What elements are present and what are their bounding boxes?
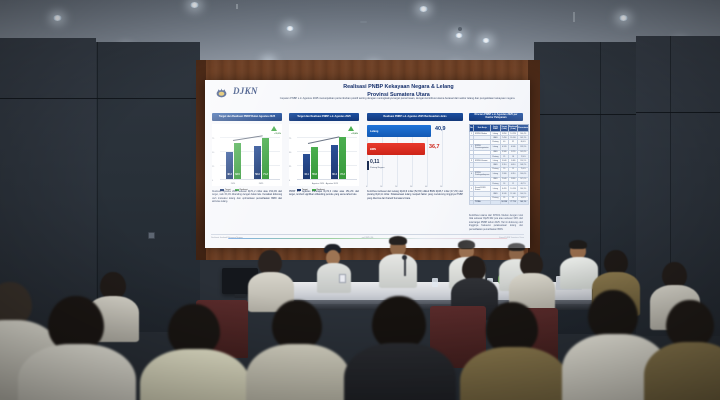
head [372,296,426,350]
bar-target-2024: 48.3 [226,152,233,179]
head [588,290,638,340]
slide-footer: Direktorat Jenderal Kekayaan Negara s.d.… [211,234,524,243]
column-header: Realisasi PNBP s.d. Agustus 2025 Berdasa… [367,113,463,121]
water-glass [432,278,438,287]
table-cell [491,200,500,204]
table-column-header: Persentase [518,125,529,132]
hair [389,236,407,245]
xtick: 10 [380,186,382,188]
djkn-wordmark: DJKN [233,86,258,96]
column-note: Kontribusi terbesar dari Lelang Rp40,9 m… [367,191,463,201]
column-note: PNBP s.d. Agustus mencapai Rp72,3 miliar… [289,191,359,198]
bar-group-agustus-2024: 44.1 55.8 [303,147,318,179]
xtick: 30 [410,186,412,188]
slide-column-realisasi-bulan: Target dan Realisasi PNBP Bulan Agustus … [212,113,282,186]
footer-left: Direktorat Jenderal Kekayaan Negara [211,237,243,239]
ceiling-vent [360,21,367,23]
downlight [619,15,628,21]
xtick: 20 [395,186,397,188]
bar-realisasi-agustus-2025: 72.3 [339,137,346,179]
downlight [419,6,428,12]
hbar-bmn-value: 36,7 [429,144,440,150]
djkn-emblem-icon [215,86,228,99]
projector-mount [573,12,575,22]
torso [644,342,720,400]
slide-column-komposisi: Realisasi PNBP s.d. Agustus 2025 Berdasa… [367,113,463,187]
slide-header: DJKN Realisasi PNBP Kekayaan Negara & Le… [205,80,530,110]
sprinkler-icon [236,4,238,9]
conference-room-photo: DJKN Realisasi PNBP Kekayaan Negara & Le… [0,0,720,400]
torso [460,347,568,400]
name-badge [339,274,346,283]
slide-description: Capaian PNBP s.d. Agustus 2025 menunjukk… [275,97,520,101]
growth-label: +23,4% [351,133,358,135]
table-cell: 52.128 [500,200,509,204]
table-cell: 77.710 [509,200,518,204]
xtick: 50 [440,186,442,188]
hbar-piutang [367,161,369,170]
presentation-slide: DJKN Realisasi PNBP Kekayaan Negara & Le… [205,80,530,248]
torso [140,349,250,400]
downlight [53,15,62,21]
torso [18,344,136,400]
bar-target-agustus-2025: 60.4 [331,145,338,179]
growth-arrow-icon [271,126,277,131]
torso [344,343,456,400]
bar-target-2025: 58.6 [254,146,261,179]
head [666,300,714,348]
bar-chart-kumulatif: 0 25 50 75 44.1 55.8 60.4 [289,124,359,186]
downlight [286,26,294,31]
column-note: Realisasi Agustus 2025 sebesar Rp71,2 mi… [212,191,282,205]
xtick: 40 [425,186,427,188]
pnbp-table: NoUnit KerjaJenis PNBPTarget (Juta)Reali… [469,124,529,205]
footer-right: Kanwil DJKN Sumatera Utara [499,237,524,239]
head [272,300,322,350]
bar-realisasi-2025: 71.2 [262,138,269,179]
head [100,272,126,299]
bar-category-2025: 2025 [252,183,270,185]
ceiling-sensor-icon [458,27,462,31]
table-column-header: Realisasi (Juta) [509,125,518,132]
downlight [455,33,463,38]
torso [379,254,417,288]
bar-group-agustus-2025: 60.4 72.3 [331,137,346,179]
table-header-row: NoUnit KerjaJenis PNBPTarget (Juta)Reali… [470,125,529,132]
projection-screen: DJKN Realisasi PNBP Kekayaan Negara & Le… [205,80,530,248]
hbar-chart-komposisi: Lelang 40,9 BMN 36,7 0,11 Piutang Negara… [367,125,463,187]
column-header: Target dan Realisasi PNBP Bulan Agustus … [212,113,282,121]
hair [508,243,525,251]
bar-group-2025: 58.6 71.2 [254,138,269,179]
table-column-header: Jenis PNBP [491,125,500,132]
slide-column-tabel: Rincian PNBP s.d. Agustus 2025 per Kanto… [469,113,523,205]
bar-realisasi-2024: 63.5 [234,143,241,179]
table-column-header: Target (Juta) [500,125,509,132]
microphone-head-icon [402,255,407,260]
hbar-lelang-value: 40,9 [435,126,446,132]
hbar-bmn: BMN 36,7 [367,143,425,155]
table-cell: TOTAL [474,200,491,204]
torso [246,344,350,400]
microphone [404,258,406,276]
growth-arrow-icon [348,126,354,131]
hair [569,240,587,249]
bar-realisasi-agustus-2024: 55.8 [311,147,318,179]
bar-category-2024: 2024 [224,183,242,185]
table-column-header: Unit Kerja [474,125,491,132]
hbar-piutang-label: Piutang Negara [370,167,384,169]
column-note: Kontribusi utama dari KPKNL Medan dengan… [469,215,523,232]
hair [458,240,475,249]
downlight [190,2,199,8]
hbar-piutang-value: 0,11 [370,159,379,165]
growth-label: +15,2% [274,133,281,135]
bar-target-agustus-2024: 44.1 [303,154,310,179]
footer-center: s.d. 2025 | 30 [362,237,373,239]
table-cell: 149,1% [518,200,529,204]
bar-category-agustus: Agustus 2024 Agustus 2025 [297,183,353,185]
column-header: Target dan Realisasi PNBP s.d. Agustus 2… [289,113,359,121]
xtick: 0 [366,186,367,188]
slide-column-realisasi-kumulatif: Target dan Realisasi PNBP s.d. Agustus 2… [289,113,359,186]
hbar-lelang: Lelang 40,9 [367,125,431,137]
bar-group-2024: 48.3 63.5 [226,143,241,179]
bar-chart-bulan: 0 25 50 75 48.3 63.5 2024 [212,124,282,186]
table-row: TOTAL52.12877.710149,1% [470,200,529,204]
downlight [482,38,490,43]
column-header: Rincian PNBP s.d. Agustus 2025 per Kanto… [469,113,523,121]
